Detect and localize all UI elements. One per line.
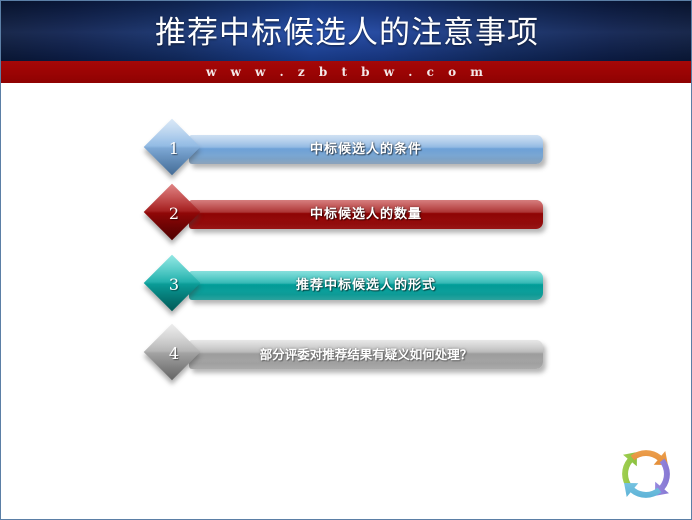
recycle-cycle-arrows-logo-icon <box>613 441 679 507</box>
list-item[interactable]: 中标候选人的条件 1 <box>1 117 692 181</box>
item-number-2: 2 <box>146 186 202 242</box>
website-url-text: w w w . z b t b w . c o m <box>1 61 692 83</box>
item-number-1: 1 <box>146 121 202 177</box>
item-label-3: 推荐中标候选人的形式 <box>189 271 543 300</box>
item-bar-1[interactable]: 中标候选人的条件 <box>189 135 543 164</box>
item-label-1: 中标候选人的条件 <box>189 135 543 164</box>
item-number-badge-3[interactable]: 3 <box>146 257 202 313</box>
list-item[interactable]: 推荐中标候选人的形式 3 <box>1 253 692 317</box>
website-url-band: w w w . z b t b w . c o m <box>1 61 692 83</box>
item-number-4: 4 <box>146 326 202 382</box>
item-bar-3[interactable]: 推荐中标候选人的形式 <box>189 271 543 300</box>
presentation-slide: 推荐中标候选人的注意事项 w w w . z b t b w . c o m 中… <box>0 0 692 520</box>
item-number-3: 3 <box>146 257 202 313</box>
page-title: 推荐中标候选人的注意事项 <box>1 11 692 55</box>
item-bar-4[interactable]: 部分评委对推荐结果有疑义如何处理？ <box>189 340 543 369</box>
item-number-badge-2[interactable]: 2 <box>146 186 202 242</box>
item-bar-2[interactable]: 中标候选人的数量 <box>189 200 543 229</box>
item-label-4: 部分评委对推荐结果有疑义如何处理？ <box>189 340 543 369</box>
item-label-2: 中标候选人的数量 <box>189 200 543 229</box>
list-item[interactable]: 部分评委对推荐结果有疑义如何处理？ 4 <box>1 322 692 386</box>
item-number-badge-1[interactable]: 1 <box>146 121 202 177</box>
list-item[interactable]: 中标候选人的数量 2 <box>1 182 692 246</box>
item-number-badge-4[interactable]: 4 <box>146 326 202 382</box>
